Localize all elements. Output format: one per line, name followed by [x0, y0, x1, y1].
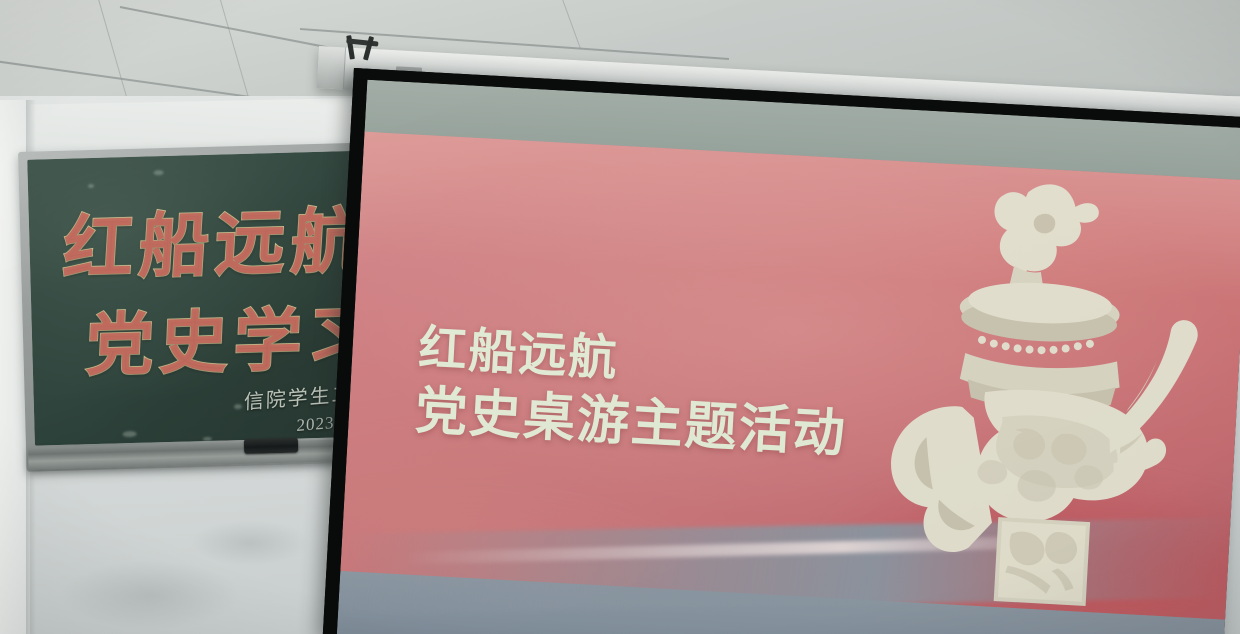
blackboard-chalk-line-1: 红船远航	[60, 184, 370, 293]
slide-title: 红船远航 党史桌游主题活动	[414, 321, 852, 465]
ceiling-grid-line	[560, 0, 581, 49]
ceiling-mount-bracket	[345, 35, 380, 63]
chalk-dust-speck	[154, 170, 164, 175]
chalk-dust-speck	[123, 431, 137, 437]
projection-screen-surface: 红船远航 党史桌游主题活动	[337, 80, 1240, 634]
bracket-cross-bar	[346, 38, 378, 46]
pull-down-projection-screen[interactable]: 红船远航 党史桌游主题活动	[323, 68, 1240, 634]
huabiao-column-graphic	[856, 166, 1209, 613]
roller-endcap	[317, 46, 346, 89]
chalk-dust-speck	[234, 404, 242, 409]
chalk-dust-speck	[203, 437, 212, 441]
blackboard-eraser	[244, 438, 298, 454]
classroom-photo-scene: 红船远航 党史学习 信院学生二支部 2023.4	[0, 0, 1240, 634]
chalk-dust-speck	[88, 184, 94, 188]
